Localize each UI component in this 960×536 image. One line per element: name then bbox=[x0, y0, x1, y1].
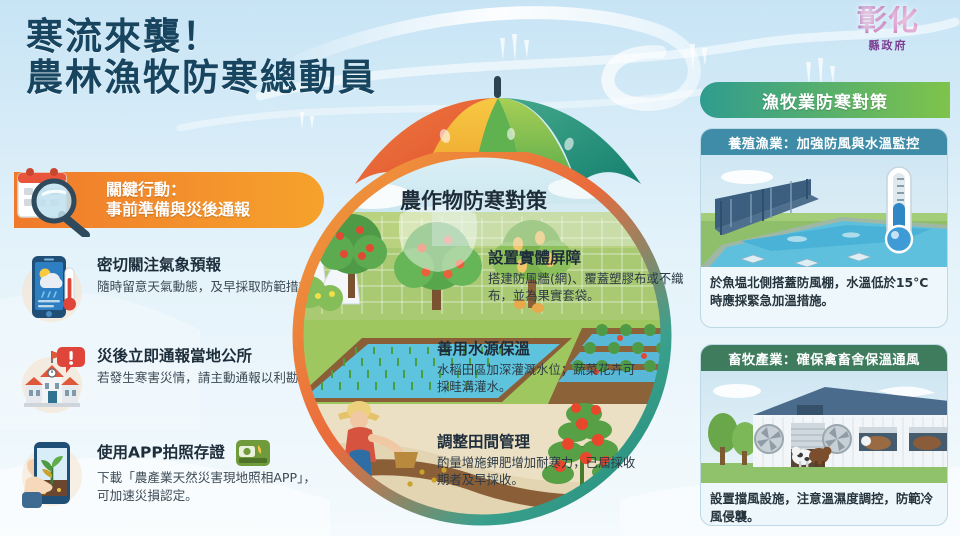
fishery-card-header: 養殖漁業：加強防風與水溫監控 bbox=[701, 129, 947, 155]
list-item: 密切關注氣象預報 隨時留意天氣動態，及早採取防範措施。 bbox=[22, 252, 324, 324]
crop-measure-item: 設置實體屏障 搭建防風牆(網)、覆蓋塑膠布或不織布，並為果實套袋。 bbox=[488, 246, 688, 305]
fishery-card-body: 於魚塭北側搭蓋防風棚，水溫低於15°C時應採緊急加溫措施。 bbox=[701, 267, 947, 310]
crop-section-heading: 農作物防寒對策 bbox=[400, 185, 547, 215]
calendar-magnifier-icon bbox=[14, 163, 98, 237]
fishery-livestock-section-header: 漁牧業防寒對策 bbox=[700, 82, 950, 118]
crop-measure-body: 搭建防風牆(網)、覆蓋塑膠布或不織布，並為果實套袋。 bbox=[488, 270, 688, 305]
list-item: 使用APP拍照存證 下載「農產業天然災害現地照相APP」，可加速災損認定。 bbox=[22, 436, 324, 508]
crop-measure-item: 調整田間管理 酌量增施鉀肥增加耐寒力，已屆採收期者及早採收。 bbox=[437, 430, 637, 489]
key-action-text: 關鍵行動： 事前準備與災後通報 bbox=[106, 180, 250, 220]
livestock-card-header: 畜牧產業：確保禽畜舍保溫通風 bbox=[701, 345, 947, 371]
key-action-line-1: 關鍵行動： bbox=[106, 180, 250, 200]
agri-disaster-photo-app-badge bbox=[236, 440, 270, 466]
page-title: 寒流來襲！ 農林漁牧防寒總動員 bbox=[26, 16, 377, 99]
fish-pond-with-windbreak-and-thermometer bbox=[701, 155, 947, 267]
fishery-card: 養殖漁業：加強防風與水溫監控 bbox=[700, 128, 948, 328]
fishery-livestock-heading: 漁牧業防寒對策 bbox=[762, 88, 888, 113]
crop-measure-body: 水稻田區加深灌溉水位；蔬菜花卉可採畦溝灌水。 bbox=[437, 361, 637, 396]
logo-sub-text: 縣政府 bbox=[836, 37, 940, 53]
crop-measure-heading: 調整田間管理 bbox=[437, 430, 637, 452]
livestock-card: 畜牧產業：確保禽畜舍保溫通風 bbox=[700, 344, 948, 526]
crop-measure-heading: 設置實體屏障 bbox=[488, 246, 688, 268]
list-item: 災後立即通報當地公所 若發生寒害災情，請主動通報以利勘查。 bbox=[22, 343, 324, 415]
title-line-1: 寒流來襲！ bbox=[26, 16, 377, 57]
livestock-barn-with-ventilation-fans bbox=[701, 371, 947, 483]
smartphone-weather-thermometer-icon bbox=[22, 252, 88, 324]
crop-measure-body: 酌量增施鉀肥增加耐寒力，已屆採收期者及早採收。 bbox=[437, 454, 637, 489]
item-heading-text: 使用APP拍照存證 bbox=[97, 444, 225, 462]
key-action-line-2: 事前準備與災後通報 bbox=[106, 200, 250, 220]
livestock-card-body: 設置擋風設施，注意溫濕度調控，防範冷風侵襲。 bbox=[701, 483, 947, 526]
logo-main-text: 彰化 bbox=[836, 6, 940, 36]
infographic-poster: 寒流來襲！ 農林漁牧防寒總動員 彰化 縣政府 關鍵行動： 事前準備與災後通報 bbox=[0, 0, 960, 536]
crop-measure-item: 善用水源保溫 水稻田區加深灌溉水位；蔬菜花卉可採畦溝灌水。 bbox=[437, 337, 637, 396]
crop-measure-heading: 善用水源保溫 bbox=[437, 337, 637, 359]
town-hall-alert-icon bbox=[22, 343, 88, 415]
changhua-county-government-logo: 彰化 縣政府 bbox=[836, 6, 940, 64]
title-line-2: 農林漁牧防寒總動員 bbox=[26, 57, 377, 98]
hand-holding-phone-crop-icon bbox=[22, 436, 88, 508]
